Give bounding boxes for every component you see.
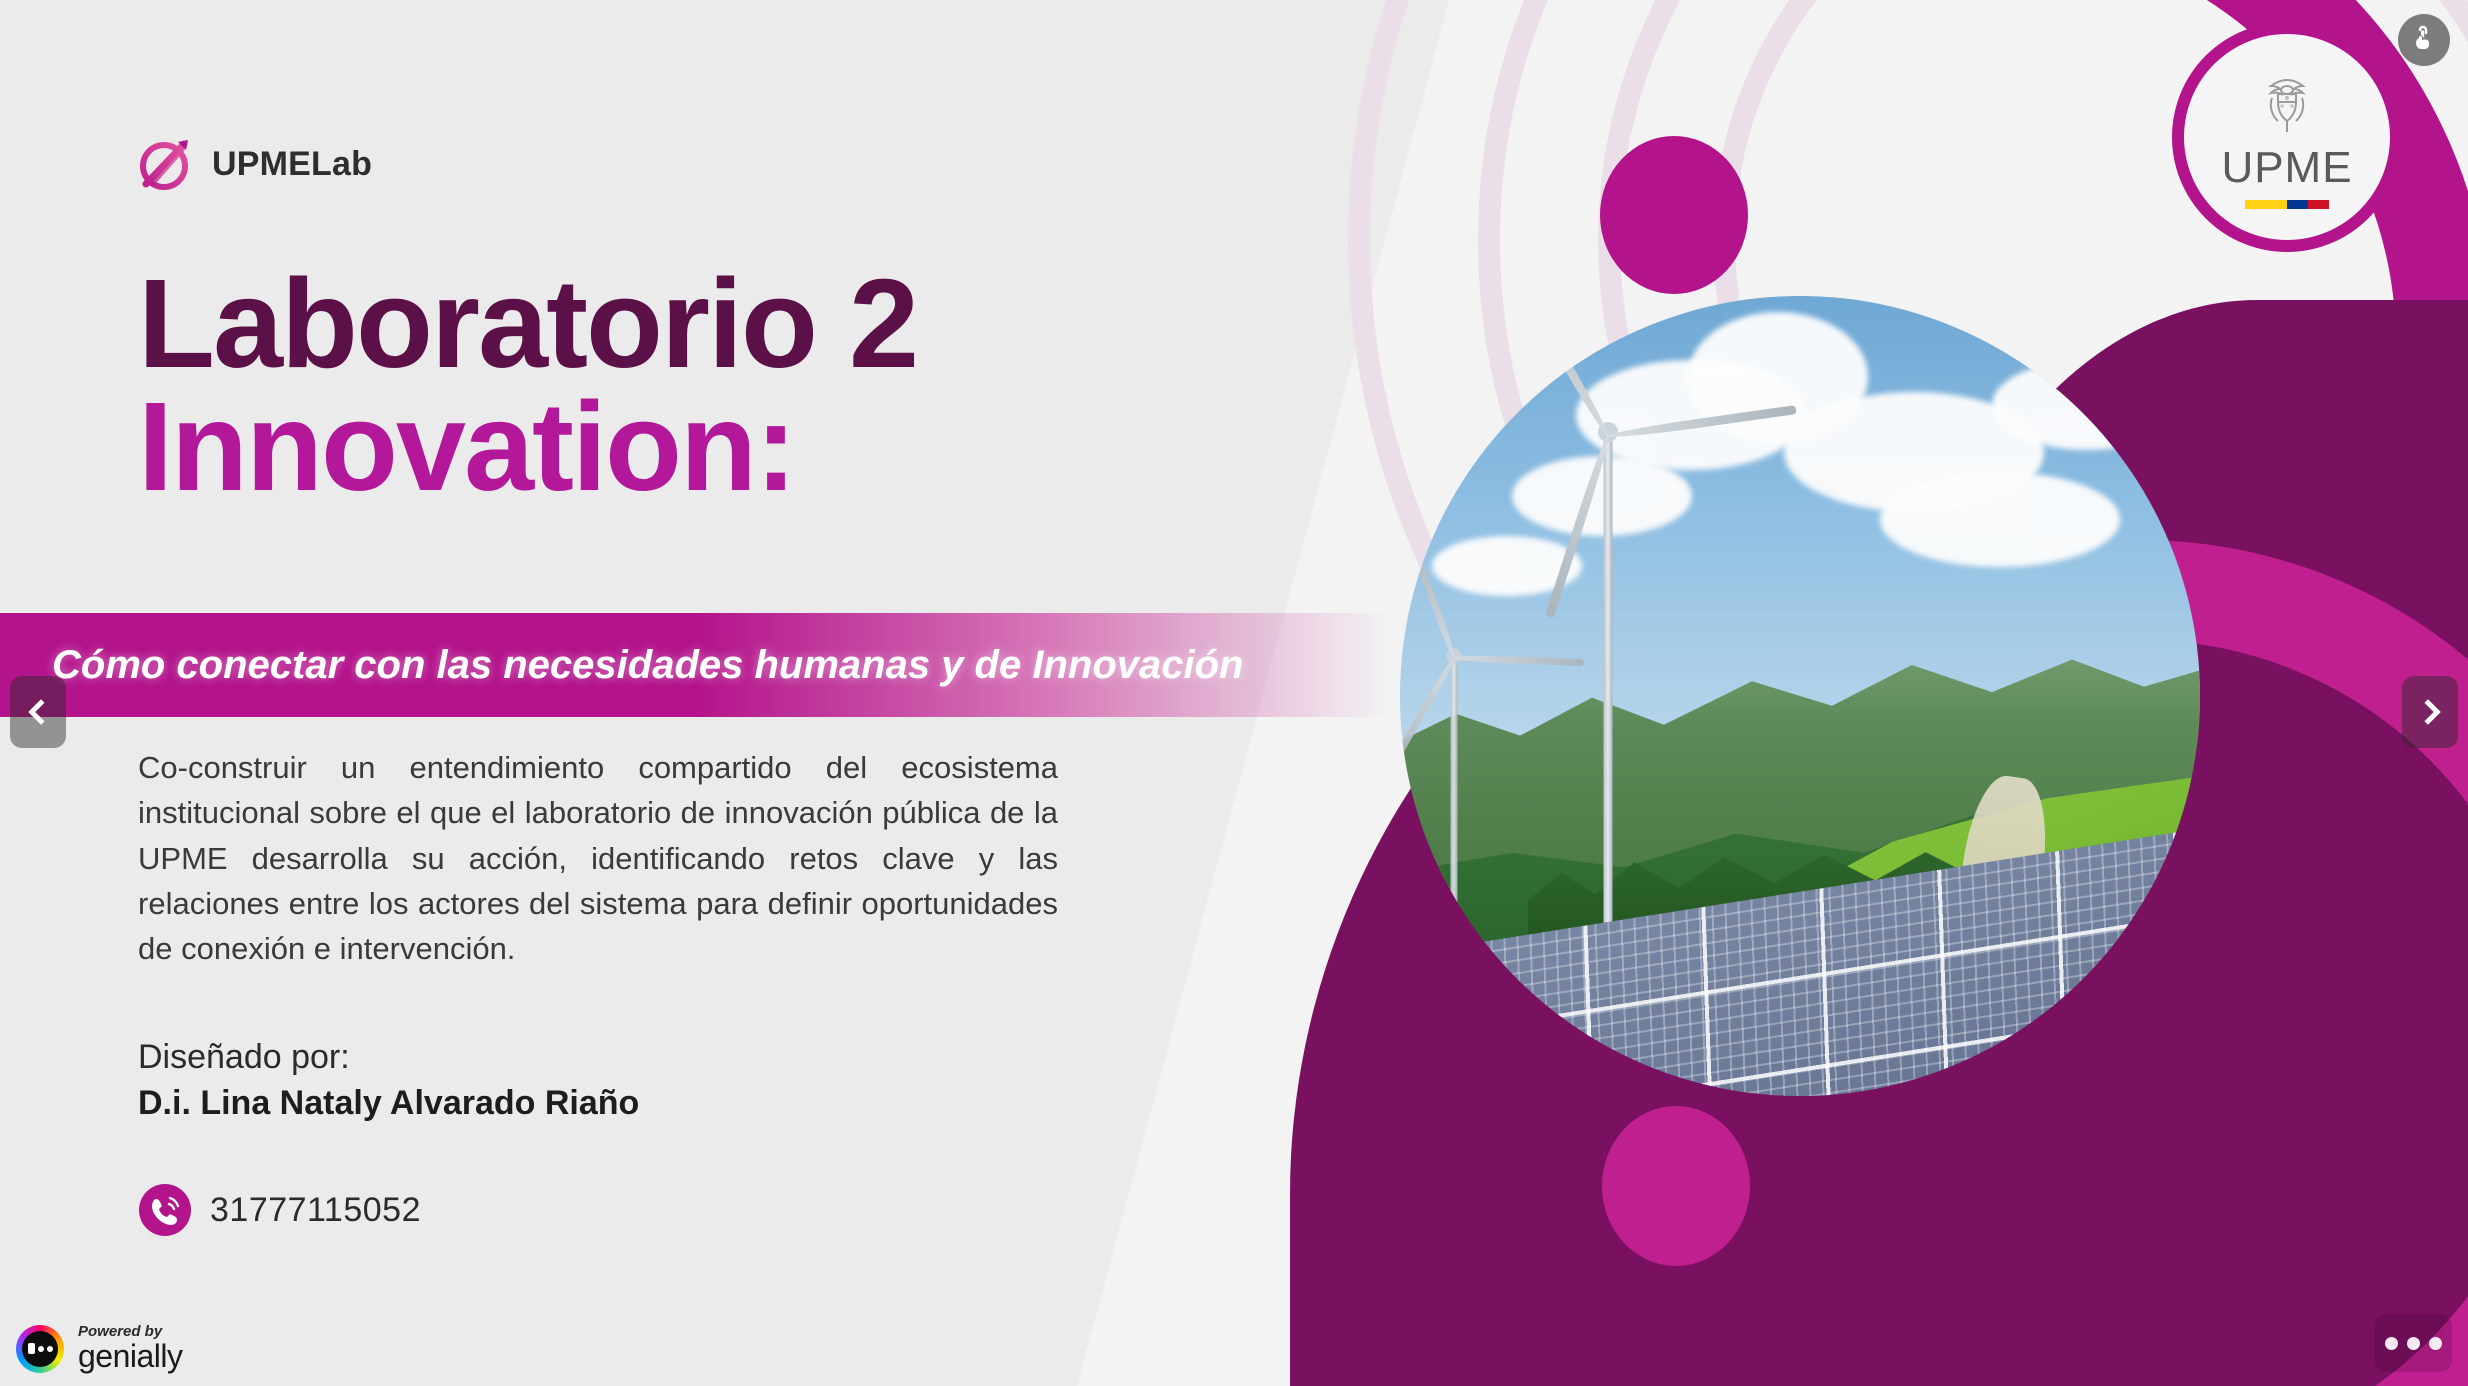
cloud: [1880, 472, 2120, 567]
more-options-icon: [2407, 1337, 2420, 1350]
rocket-target-icon: [138, 136, 194, 192]
slide-canvas: UPMELab Laboratorio 2 Innovation: Cómo c…: [0, 0, 2468, 1386]
contact-phone[interactable]: 31777115052: [138, 1183, 421, 1237]
wind-turbine: [1400, 632, 1524, 962]
more-options-icon: [2385, 1337, 2398, 1350]
upme-badge-word: UPME: [2221, 146, 2352, 190]
next-slide-button[interactable]: [2402, 676, 2458, 748]
designer-name: D.i. Lina Nataly Alvarado Riaño: [138, 1081, 639, 1127]
upmelab-logo-text: UPMELab: [212, 145, 372, 184]
genially-logo-icon: [16, 1325, 64, 1373]
designed-by-block: Diseñado por: D.i. Lina Nataly Alvarado …: [138, 1035, 639, 1127]
title-line-2: Innovation:: [138, 385, 917, 508]
colombia-coat-of-arms-icon: [2250, 70, 2324, 144]
upmelab-logo: UPMELab: [138, 136, 372, 192]
upme-badge: UPME: [2172, 22, 2402, 252]
subtitle-text: Cómo conectar con las necesidades humana…: [0, 643, 1243, 688]
more-options-button[interactable]: [2374, 1314, 2452, 1372]
slide-title: Laboratorio 2 Innovation:: [138, 262, 917, 509]
subtitle-banner: Cómo conectar con las necesidades humana…: [0, 613, 1390, 717]
previous-slide-button[interactable]: [10, 676, 66, 748]
interactive-hint-button[interactable]: [2398, 14, 2450, 66]
touch-hand-icon: [2410, 24, 2438, 57]
hero-photo: [1400, 296, 2200, 1096]
decorative-dot-top: [1600, 136, 1748, 294]
genially-footer[interactable]: Powered by genially: [16, 1324, 183, 1374]
designed-by-label: Diseñado por:: [138, 1035, 639, 1081]
genially-brand-name: genially: [78, 1338, 183, 1374]
chevron-left-icon: [28, 699, 53, 724]
phone-call-icon: [138, 1183, 192, 1237]
title-line-1: Laboratorio 2: [138, 262, 917, 385]
phone-number: 31777115052: [210, 1191, 421, 1230]
chevron-right-icon: [2415, 699, 2440, 724]
decorative-dot-bottom: [1602, 1106, 1750, 1266]
cloud: [1992, 360, 2182, 450]
colombia-flag-icon: [2245, 200, 2329, 209]
slide-body-text: Co-construir un entendimiento compartido…: [138, 745, 1058, 971]
powered-by-label: Powered by: [78, 1323, 162, 1340]
wind-turbine: [1528, 392, 1688, 952]
more-options-icon: [2429, 1337, 2442, 1350]
